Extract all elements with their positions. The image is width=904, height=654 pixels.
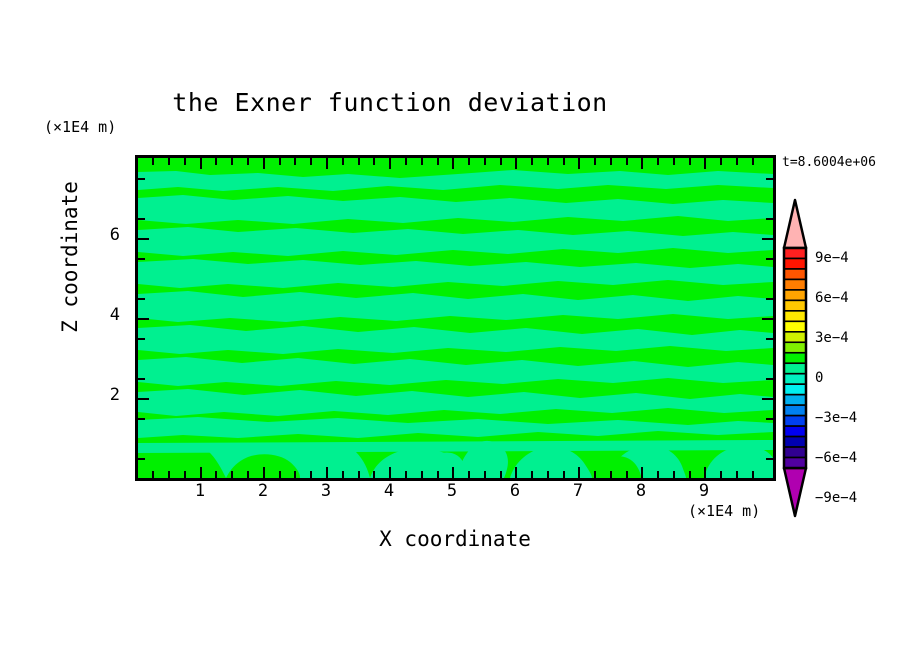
x-tick-label: 2 bbox=[258, 481, 268, 501]
x-axis-unit-label: (×1E4 m) bbox=[688, 502, 760, 520]
x-major-tick bbox=[641, 467, 643, 478]
x-minor-tick bbox=[500, 471, 502, 478]
x-top-minor-tick bbox=[342, 158, 344, 165]
x-tick-label: 8 bbox=[636, 481, 646, 501]
timestamp-label: t=8.6004e+06 bbox=[782, 155, 876, 170]
x-minor-tick bbox=[152, 471, 154, 478]
y-right-minor-tick bbox=[766, 298, 773, 300]
x-top-minor-tick bbox=[231, 158, 233, 165]
colorbar-band bbox=[784, 363, 806, 373]
x-top-minor-tick bbox=[215, 158, 217, 165]
x-top-minor-tick bbox=[294, 158, 296, 165]
colorbar-band bbox=[784, 269, 806, 279]
x-major-tick bbox=[704, 467, 706, 478]
y-minor-tick bbox=[138, 338, 145, 340]
x-minor-tick bbox=[531, 471, 533, 478]
y-minor-tick bbox=[138, 178, 145, 180]
y-major-tick bbox=[138, 318, 149, 320]
x-axis-title: X coordinate bbox=[275, 527, 635, 551]
y-right-minor-tick bbox=[766, 338, 773, 340]
colorbar-band bbox=[784, 384, 806, 394]
x-top-minor-tick bbox=[373, 158, 375, 165]
colorbar-band bbox=[784, 279, 806, 289]
x-tick-label: 9 bbox=[699, 481, 709, 501]
y-right-minor-tick bbox=[766, 258, 773, 260]
y-right-minor-tick bbox=[766, 378, 773, 380]
x-major-tick bbox=[452, 467, 454, 478]
x-top-minor-tick bbox=[500, 158, 502, 165]
x-top-minor-tick bbox=[736, 158, 738, 165]
y-tick-label: 2 bbox=[98, 385, 120, 405]
y-minor-tick bbox=[138, 298, 145, 300]
x-tick-label: 3 bbox=[321, 481, 331, 501]
x-minor-tick bbox=[720, 471, 722, 478]
x-top-minor-tick bbox=[247, 158, 249, 165]
x-minor-tick bbox=[184, 471, 186, 478]
y-right-minor-tick bbox=[766, 418, 773, 420]
colorbar-band bbox=[784, 437, 806, 447]
y-major-tick bbox=[138, 398, 149, 400]
colorbar-band bbox=[784, 332, 806, 342]
x-top-minor-tick bbox=[184, 158, 186, 165]
x-minor-tick bbox=[215, 471, 217, 478]
x-minor-tick bbox=[168, 471, 170, 478]
x-top-major-tick bbox=[200, 158, 202, 169]
y-minor-tick bbox=[138, 418, 145, 420]
x-minor-tick bbox=[405, 471, 407, 478]
y-minor-tick bbox=[138, 218, 145, 220]
x-minor-tick bbox=[752, 471, 754, 478]
x-top-minor-tick bbox=[168, 158, 170, 165]
colorbar-tick-label: 9e−4 bbox=[815, 250, 849, 266]
colorbar-tick-label: 0 bbox=[815, 370, 823, 386]
colorbar-band bbox=[784, 300, 806, 310]
x-top-minor-tick bbox=[610, 158, 612, 165]
x-minor-tick bbox=[689, 471, 691, 478]
colorbar-tick-label: −9e−4 bbox=[815, 490, 857, 506]
x-minor-tick bbox=[358, 471, 360, 478]
y-axis-title: Z coordinate bbox=[58, 157, 82, 357]
colorbar-band bbox=[784, 290, 806, 300]
y-right-major-tick bbox=[762, 318, 773, 320]
x-minor-tick bbox=[610, 471, 612, 478]
x-top-minor-tick bbox=[752, 158, 754, 165]
x-minor-tick bbox=[626, 471, 628, 478]
x-top-minor-tick bbox=[468, 158, 470, 165]
colorbar-band bbox=[784, 426, 806, 436]
colorbar-band bbox=[784, 458, 806, 468]
colorbar-band bbox=[784, 258, 806, 268]
x-minor-tick bbox=[468, 471, 470, 478]
x-minor-tick bbox=[421, 471, 423, 478]
y-axis-unit-label: (×1E4 m) bbox=[44, 118, 116, 136]
colorbar-tick-label: −3e−4 bbox=[815, 410, 857, 426]
x-minor-tick bbox=[247, 471, 249, 478]
x-top-minor-tick bbox=[279, 158, 281, 165]
x-top-minor-tick bbox=[484, 158, 486, 165]
x-major-tick bbox=[389, 467, 391, 478]
x-tick-label: 4 bbox=[384, 481, 394, 501]
contour-field bbox=[138, 158, 773, 478]
y-tick-label: 4 bbox=[98, 305, 120, 325]
x-top-minor-tick bbox=[152, 158, 154, 165]
figure-canvas: the Exner function deviation (×1E4 m) (×… bbox=[0, 0, 904, 654]
x-major-tick bbox=[326, 467, 328, 478]
x-minor-tick bbox=[373, 471, 375, 478]
x-minor-tick bbox=[342, 471, 344, 478]
y-tick-label: 6 bbox=[98, 225, 120, 245]
x-major-tick bbox=[515, 467, 517, 478]
colorbar-tick-label: −6e−4 bbox=[815, 450, 857, 466]
x-top-major-tick bbox=[515, 158, 517, 169]
x-top-major-tick bbox=[578, 158, 580, 169]
colorbar-tick-label: 3e−4 bbox=[815, 330, 849, 346]
x-tick-label: 6 bbox=[510, 481, 520, 501]
x-top-major-tick bbox=[389, 158, 391, 169]
y-right-minor-tick bbox=[766, 458, 773, 460]
x-minor-tick bbox=[736, 471, 738, 478]
x-top-minor-tick bbox=[657, 158, 659, 165]
colorbar-band bbox=[784, 248, 806, 258]
y-right-major-tick bbox=[762, 398, 773, 400]
x-top-minor-tick bbox=[563, 158, 565, 165]
x-minor-tick bbox=[673, 471, 675, 478]
x-minor-tick bbox=[310, 471, 312, 478]
x-top-major-tick bbox=[641, 158, 643, 169]
y-right-minor-tick bbox=[766, 178, 773, 180]
y-minor-tick bbox=[138, 378, 145, 380]
x-top-major-tick bbox=[452, 158, 454, 169]
x-major-tick bbox=[263, 467, 265, 478]
y-major-tick bbox=[138, 238, 149, 240]
colorbar-band bbox=[784, 395, 806, 405]
x-minor-tick bbox=[563, 471, 565, 478]
x-top-minor-tick bbox=[673, 158, 675, 165]
x-minor-tick bbox=[294, 471, 296, 478]
x-top-minor-tick bbox=[626, 158, 628, 165]
colorbar-band bbox=[784, 447, 806, 457]
page-title: the Exner function deviation bbox=[0, 88, 780, 117]
x-minor-tick bbox=[437, 471, 439, 478]
colorbar-band bbox=[784, 342, 806, 352]
y-minor-tick bbox=[138, 258, 145, 260]
x-tick-label: 1 bbox=[195, 481, 205, 501]
x-minor-tick bbox=[279, 471, 281, 478]
colorbar-band bbox=[784, 416, 806, 426]
x-top-major-tick bbox=[326, 158, 328, 169]
x-tick-label: 7 bbox=[573, 481, 583, 501]
colorbar-band bbox=[784, 374, 806, 384]
y-right-minor-tick bbox=[766, 218, 773, 220]
x-top-minor-tick bbox=[437, 158, 439, 165]
x-minor-tick bbox=[594, 471, 596, 478]
colorbar[interactable] bbox=[781, 198, 809, 518]
x-top-major-tick bbox=[263, 158, 265, 169]
x-top-minor-tick bbox=[531, 158, 533, 165]
colorbar-band bbox=[784, 321, 806, 331]
x-top-minor-tick bbox=[405, 158, 407, 165]
colorbar-band bbox=[784, 353, 806, 363]
contour-plot-area bbox=[135, 155, 776, 481]
y-minor-tick bbox=[138, 458, 145, 460]
x-minor-tick bbox=[231, 471, 233, 478]
x-top-minor-tick bbox=[547, 158, 549, 165]
x-major-tick bbox=[200, 467, 202, 478]
colorbar-tick-label: 6e−4 bbox=[815, 290, 849, 306]
y-right-major-tick bbox=[762, 238, 773, 240]
x-top-major-tick bbox=[704, 158, 706, 169]
colorbar-band bbox=[784, 405, 806, 415]
x-minor-tick bbox=[657, 471, 659, 478]
colorbar-scale bbox=[781, 198, 809, 518]
x-minor-tick bbox=[547, 471, 549, 478]
x-top-minor-tick bbox=[421, 158, 423, 165]
x-tick-label: 5 bbox=[447, 481, 457, 501]
x-top-minor-tick bbox=[358, 158, 360, 165]
x-minor-tick bbox=[484, 471, 486, 478]
x-top-minor-tick bbox=[594, 158, 596, 165]
x-top-minor-tick bbox=[720, 158, 722, 165]
x-top-minor-tick bbox=[689, 158, 691, 165]
colorbar-band bbox=[784, 311, 806, 321]
x-top-minor-tick bbox=[310, 158, 312, 165]
x-major-tick bbox=[578, 467, 580, 478]
